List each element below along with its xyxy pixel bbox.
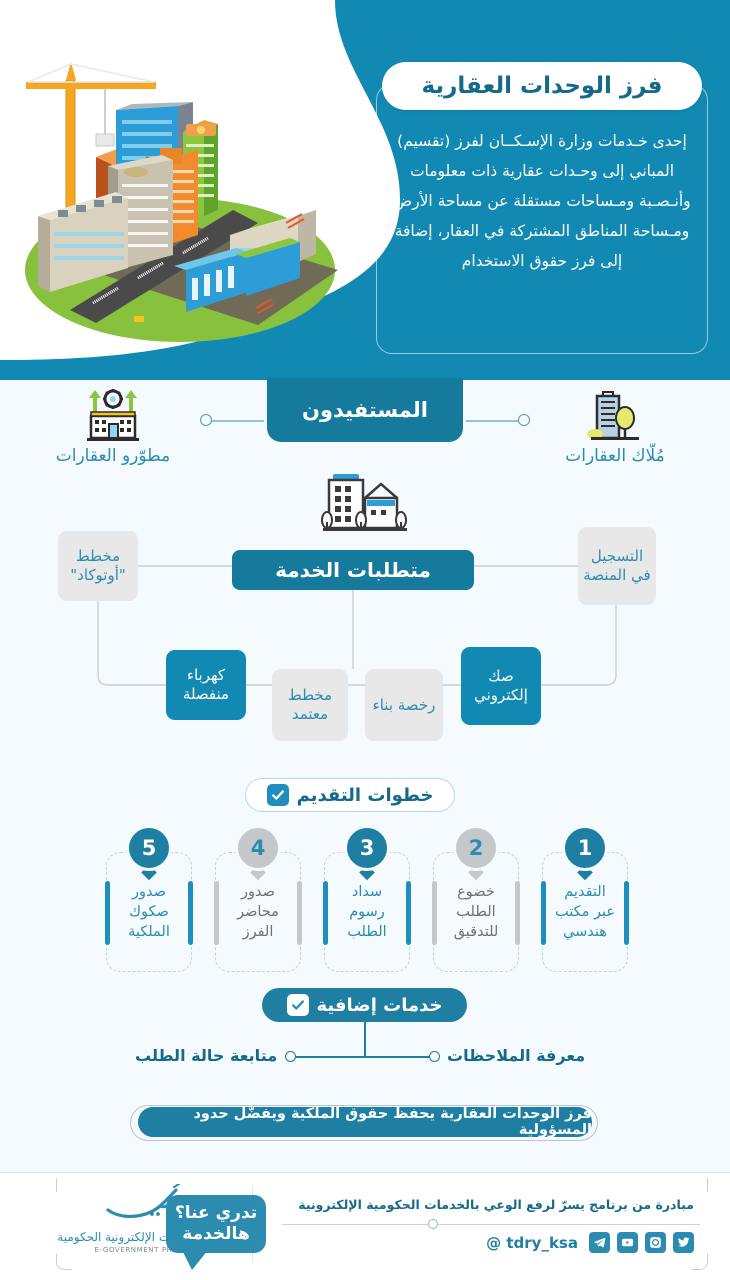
infographic-page: فرز الوحدات العقارية إحدى خـدمات وزارة ا… xyxy=(0,0,730,1280)
beneficiary-developers: مطوّرو العقارات xyxy=(28,388,198,466)
footer-divider xyxy=(0,1172,730,1173)
steps-title-pill: خطوات التقديم xyxy=(245,778,455,812)
step-4: 4 صدور محاضر الفرز xyxy=(215,852,301,972)
step-2-number: 2 xyxy=(453,825,499,871)
social-handle[interactable]: @ tdry_ksa xyxy=(486,1234,578,1252)
footer-line-dot xyxy=(428,1219,438,1229)
step-1-label: التقديم عبر مكتب هندسي xyxy=(554,882,616,942)
footer-section: برنامج التعاملات الإلكترونية الحكومية E-… xyxy=(0,1172,730,1280)
beneficiaries-dot-left xyxy=(200,414,212,426)
extra-service-status: متابعة حالة الطلب xyxy=(135,1046,277,1065)
extra-services-title: خدمات إضافية xyxy=(317,995,443,1016)
city-construction-illustration xyxy=(8,20,353,350)
step-5: 5 صدور صكوك الملكية xyxy=(106,852,192,972)
step-1-bar-left xyxy=(541,881,546,945)
requirements-title: متطلبات الخدمة xyxy=(232,550,474,590)
requirement-electronic-deed: صك إلكتروني xyxy=(461,647,541,725)
step-4-bar-left xyxy=(214,881,219,945)
step-1: 1 التقديم عبر مكتب هندسي xyxy=(542,852,628,972)
building-tree-icon xyxy=(587,388,643,442)
building-growth-icon xyxy=(85,388,141,442)
tagline-banner: فرز الوحدات العقارية يحفظ حقوق الملكية و… xyxy=(138,1107,592,1137)
footer-corner-br xyxy=(692,1254,708,1270)
requirement-approved-plan: مخطط معتمد xyxy=(272,669,348,741)
step-4-label: صدور محاضر الفرز xyxy=(227,882,289,942)
step-5-bar-right xyxy=(188,881,193,945)
step-4-bar-right xyxy=(297,881,302,945)
telegram-icon[interactable] xyxy=(589,1232,610,1253)
page-title-text: فرز الوحدات العقارية xyxy=(422,73,663,99)
requirement-platform: التسجيل في المنصة xyxy=(578,527,656,605)
step-5-number: 5 xyxy=(126,825,172,871)
beneficiary-owners: مُلّاك العقارات xyxy=(530,388,700,466)
tagline-wrapper: فرز الوحدات العقارية يحفظ حقوق الملكية و… xyxy=(130,1105,600,1145)
twitter-icon[interactable] xyxy=(673,1232,694,1253)
extra-services-title-pill: خدمات إضافية xyxy=(262,988,467,1022)
extra-services-line-left xyxy=(292,1056,364,1058)
page-title: فرز الوحدات العقارية xyxy=(382,62,702,110)
beneficiaries-title-tab: المستفيدون xyxy=(267,378,463,442)
step-4-number: 4 xyxy=(235,825,281,871)
beneficiaries-dot-right xyxy=(518,414,530,426)
step-1-bar-right xyxy=(624,881,629,945)
extra-services-vertical-connector xyxy=(364,1022,366,1056)
step-2-bar-left xyxy=(432,881,437,945)
extra-services-line-right xyxy=(364,1056,432,1058)
requirements-title-text: متطلبات الخدمة xyxy=(275,558,431,582)
extra-services-dot-left xyxy=(285,1051,296,1062)
step-2: 2 خضوع الطلب للتدقيق xyxy=(433,852,519,972)
extra-services-dot-right xyxy=(429,1051,440,1062)
awareness-bubble-tail xyxy=(182,1250,208,1270)
beneficiaries-title: المستفيدون xyxy=(302,398,428,422)
step-3-number: 3 xyxy=(344,825,390,871)
requirement-autocad: مخطط "أوتوكاد" xyxy=(58,531,138,601)
footer-corner-bl xyxy=(56,1254,72,1270)
beneficiaries-connector-left xyxy=(208,420,264,422)
step-3-bar-right xyxy=(406,881,411,945)
requirement-building-license: رخصة بناء xyxy=(365,669,443,741)
step-2-bar-right xyxy=(515,881,520,945)
social-links: @ tdry_ksa xyxy=(486,1232,694,1253)
footer-horizontal-line xyxy=(282,1224,700,1225)
youtube-icon[interactable] xyxy=(617,1232,638,1253)
beneficiary-developers-label: مطوّرو العقارات xyxy=(28,446,198,466)
footer-corner-tr xyxy=(694,1178,708,1192)
check-badge-icon xyxy=(267,784,289,806)
step-5-bar-left xyxy=(105,881,110,945)
step-1-number: 1 xyxy=(562,825,608,871)
step-5-label: صدور صكوك الملكية xyxy=(118,882,180,942)
instagram-icon[interactable] xyxy=(645,1232,666,1253)
steps-title: خطوات التقديم xyxy=(297,785,434,806)
awareness-bubble: تدري عنا؟ هالخدمة xyxy=(166,1195,266,1253)
header-description: إحدى خـدمات وزارة الإسـكــان لفرز (تقسيم… xyxy=(384,126,700,276)
beneficiary-owners-label: مُلّاك العقارات xyxy=(530,446,700,466)
step-3-label: سداد رسوم الطلب xyxy=(336,882,398,942)
awareness-bubble-line2: هالخدمة xyxy=(182,1224,249,1245)
step-3-bar-left xyxy=(323,881,328,945)
extra-service-notes: معرفة الملاحظات xyxy=(447,1046,585,1065)
step-3: 3 سداد رسوم الطلب xyxy=(324,852,410,972)
requirement-electricity: كهرباء منفصلة xyxy=(166,650,246,720)
awareness-bubble-line1: تدري عنا؟ xyxy=(175,1203,257,1224)
header-section: فرز الوحدات العقارية إحدى خـدمات وزارة ا… xyxy=(0,0,730,380)
initiative-text: مبادرة من برنامج يسرّ لرفع الوعي بالخدما… xyxy=(298,1197,694,1212)
beneficiaries-connector-right xyxy=(466,420,522,422)
check-badge-icon xyxy=(287,994,309,1016)
tagline-text: فرز الوحدات العقارية يحفظ حقوق الملكية و… xyxy=(138,1106,592,1138)
step-2-label: خضوع الطلب للتدقيق xyxy=(445,882,507,942)
